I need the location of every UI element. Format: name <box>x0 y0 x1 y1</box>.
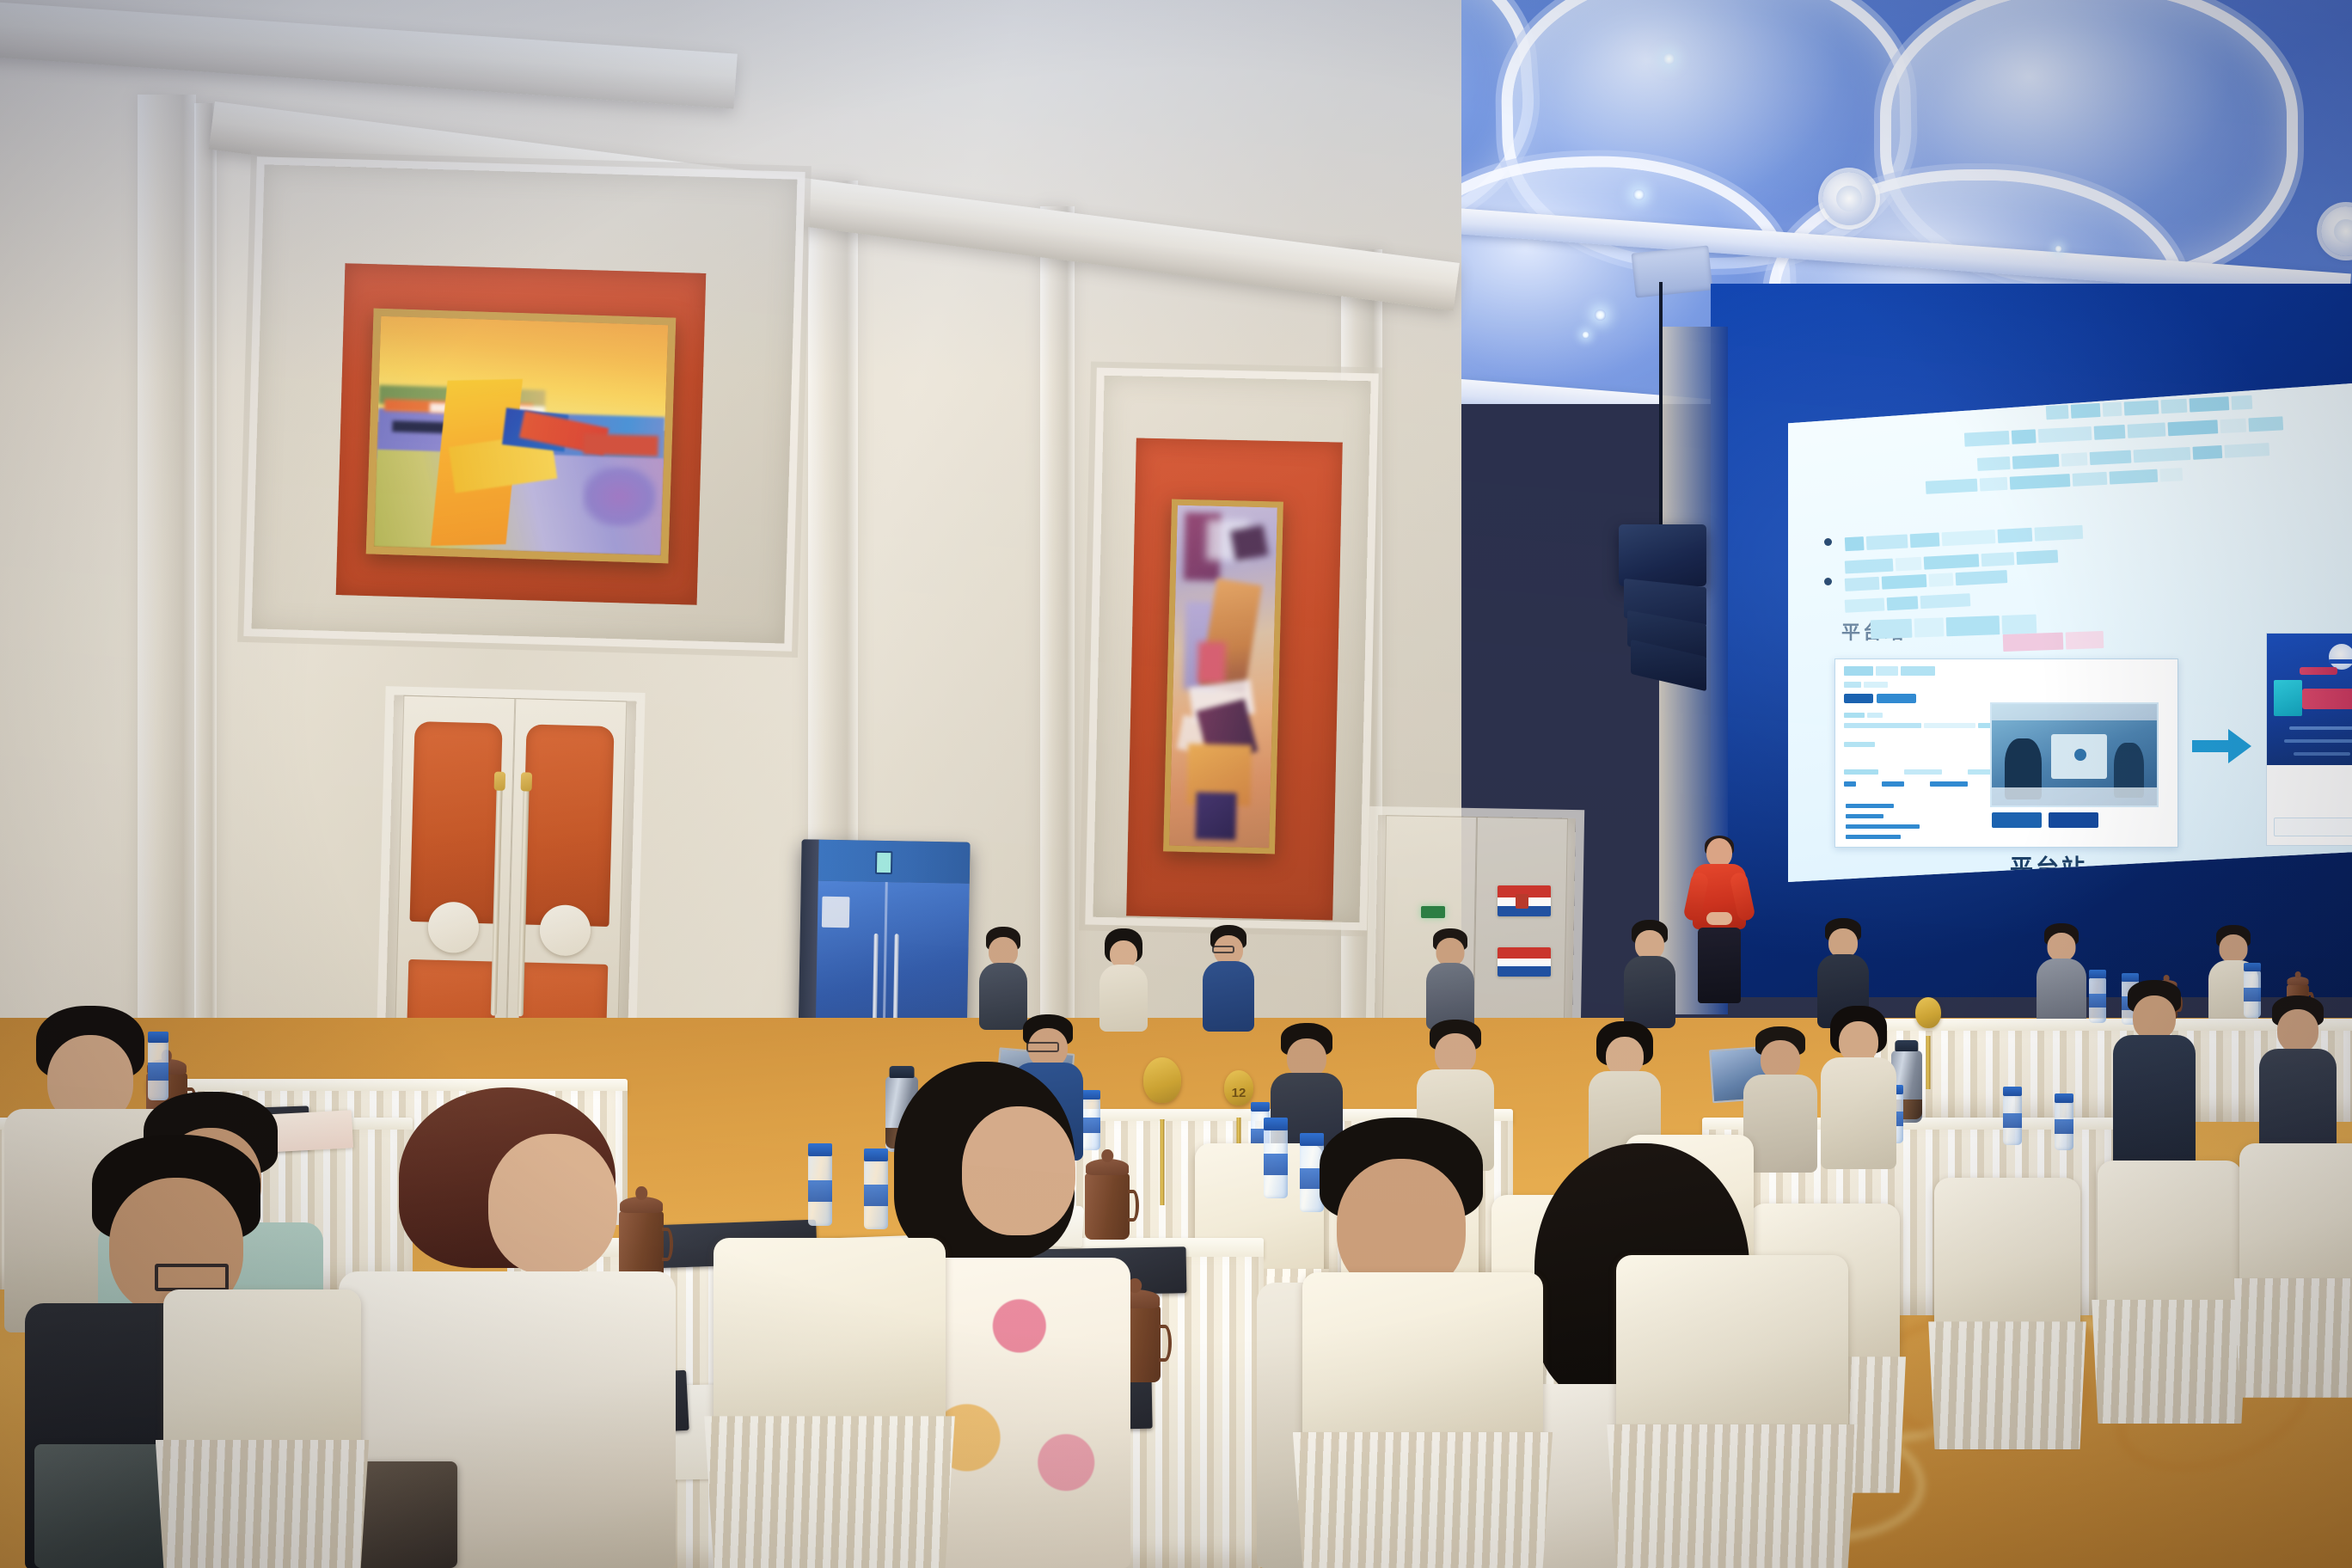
door-quatrefoil-icon <box>446 893 462 910</box>
redacted-bullet-text <box>1845 570 2008 591</box>
table-number-stand <box>1143 1057 1181 1143</box>
redacted-text-block <box>1977 443 2269 471</box>
slide-bullet-marker <box>1824 578 1832 585</box>
hanging-line-array-speaker <box>1619 524 1706 586</box>
ceiling-rosette <box>2321 206 2352 256</box>
redacted-list-item <box>1846 814 1883 818</box>
redacted-bullet-text <box>1845 525 2083 551</box>
redacted-bullet-text <box>1845 593 1971 613</box>
wall-cornice <box>209 101 1460 311</box>
card-meeting-photo <box>1990 702 2159 807</box>
redacted-card-stats <box>1844 769 2000 775</box>
conference-hall-photo: 平台站 <box>0 0 2352 1568</box>
redacted-list-item <box>1846 835 1901 839</box>
wall-recess-panel <box>1093 376 1370 922</box>
banquet-chair[interactable] <box>1302 1272 1543 1568</box>
painting-canvas <box>1169 505 1277 848</box>
screenshot-card-left <box>1834 658 2178 848</box>
wall-pilaster <box>194 103 217 1118</box>
banquet-chair[interactable] <box>1934 1178 2080 1444</box>
redacted-card-title <box>1844 666 1935 676</box>
painting-canvas <box>374 316 668 555</box>
redacted-text-block <box>1964 416 2283 446</box>
door-handle[interactable] <box>518 783 530 1017</box>
app-bottom-bar <box>2274 818 2352 836</box>
chair-skirt <box>704 1416 955 1568</box>
transition-arrow-icon <box>2192 727 2252 765</box>
slide-bullet-marker <box>1824 538 1832 546</box>
ceiling-downlight <box>1595 309 1606 321</box>
fridge-digital-display <box>875 851 892 874</box>
redacted-text-block <box>1926 468 2183 494</box>
audience-person <box>2261 995 2335 1167</box>
ceiling-downlight <box>1633 189 1645 200</box>
presentation-slide: 平台站 <box>1788 383 2352 882</box>
wall-recess-panel <box>252 164 798 643</box>
chair-back <box>1934 1178 2080 1332</box>
chair-back <box>1302 1272 1543 1444</box>
audience-person <box>2115 980 2194 1169</box>
abstract-vertical-painting <box>1163 499 1283 854</box>
painting-frame <box>366 309 677 564</box>
painting-frame <box>1163 499 1283 854</box>
chair-skirt <box>156 1440 369 1568</box>
banquet-chair[interactable] <box>163 1289 361 1568</box>
app-side-banner <box>2274 680 2302 716</box>
wall-pilaster <box>808 181 858 1118</box>
door-panel <box>410 721 503 924</box>
redacted-text-block <box>2003 631 2104 652</box>
fridge-header-panel <box>818 840 970 884</box>
speaker-suspension-cable <box>1659 282 1663 531</box>
redacted-card-meta <box>1844 682 1888 688</box>
chair-back <box>1616 1255 1848 1436</box>
app-logo-icon <box>2329 644 2352 670</box>
audience-person <box>1822 1006 1895 1169</box>
banquet-chair[interactable] <box>1616 1255 1848 1568</box>
card-tag-badge <box>1844 694 1873 703</box>
redacted-card-stats <box>1844 781 1968 787</box>
chair-back <box>163 1289 361 1451</box>
chair-skirt <box>2092 1300 2247 1424</box>
banquet-chair[interactable] <box>2098 1161 2242 1418</box>
ceiling-downlight <box>2055 245 2062 253</box>
water-bottle <box>808 1143 832 1226</box>
door-medallion <box>427 902 479 953</box>
stand-rod <box>1161 1119 1165 1205</box>
chair-back <box>2239 1143 2352 1288</box>
ceiling-air-vent <box>1632 245 1713 297</box>
screenshot-card-right <box>2266 633 2352 846</box>
wall-red-accent-panel <box>336 263 707 605</box>
door-handle[interactable] <box>490 782 502 1016</box>
chair-skirt <box>2234 1278 2352 1398</box>
redacted-bullet-text <box>1845 550 2058 574</box>
redacted-card-body <box>1844 723 2012 728</box>
ceiling-downlight <box>1663 53 1675 64</box>
redacted-list-item <box>1846 804 1894 808</box>
fridge-label-sticker <box>822 897 849 928</box>
projection-screen: 平台站 <box>1788 383 2352 882</box>
card-tag-badge <box>1877 694 1916 703</box>
chair-back <box>2098 1161 2242 1310</box>
redacted-card-stats <box>1844 742 1875 747</box>
redacted-card-body <box>1844 713 1883 718</box>
chair-skirt <box>1928 1321 2086 1449</box>
abstract-landscape-painting <box>366 309 677 564</box>
app-badge <box>2300 667 2337 675</box>
door-medallion <box>539 904 591 956</box>
wall-red-accent-panel <box>1126 438 1343 921</box>
app-promo-banner <box>2302 689 2352 709</box>
door-quatrefoil-icon <box>557 897 573 914</box>
chair-skirt <box>1607 1424 1858 1568</box>
ceiling-rosette <box>1822 172 1876 225</box>
redacted-list-item <box>1846 824 1920 829</box>
door-panel <box>521 725 614 928</box>
banquet-chair[interactable] <box>2239 1143 2352 1393</box>
wall-cornice <box>0 0 738 109</box>
wall-pilaster <box>138 95 196 1118</box>
ceiling-downlight <box>1582 331 1589 339</box>
stand-disc <box>1143 1057 1181 1103</box>
banquet-chair[interactable] <box>714 1238 946 1568</box>
presenter-head <box>1706 838 1732 867</box>
chair-skirt <box>1293 1432 1553 1568</box>
card-secondary-button[interactable] <box>2049 812 2098 828</box>
chair-back <box>714 1238 946 1430</box>
card-primary-button[interactable] <box>1992 812 2042 828</box>
